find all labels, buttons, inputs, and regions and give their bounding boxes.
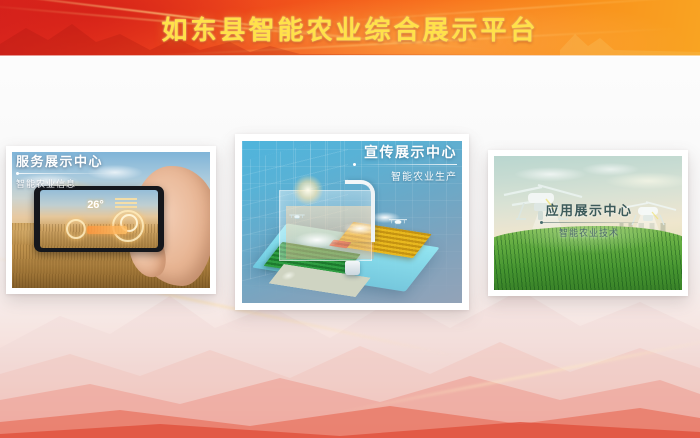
caption-app: 应用展示中心 智能农业技术: [540, 205, 638, 239]
hud-chip: [87, 226, 127, 234]
app-root: 如东县智能农业综合展示平台 26° 服务展示中心: [0, 0, 700, 438]
hud-gauge-ring: [66, 219, 86, 239]
hud-temperature: 26°: [87, 199, 104, 211]
caption-divider: [540, 222, 638, 223]
caption-divider: [16, 173, 112, 174]
caption-divider: [353, 164, 457, 165]
caption-subtitle: 智能农业信息: [16, 177, 112, 190]
caption-subtitle: 智能农业技术: [540, 226, 638, 239]
caption-title: 服务展示中心: [16, 156, 112, 170]
page-title: 如东县智能农业综合展示平台: [0, 0, 700, 56]
caption-promo: 宣传展示中心 智能农业生产: [353, 146, 457, 183]
caption-title: 宣传展示中心: [353, 146, 457, 161]
caption-title: 应用展示中心: [540, 205, 638, 219]
phone-screen: 26°: [40, 190, 158, 248]
cloud-icon: [295, 232, 339, 248]
water-tank: [345, 261, 360, 275]
smartphone-icon: 26°: [34, 186, 164, 252]
hud-bars: [115, 198, 137, 210]
irrigation-arch: [345, 180, 375, 242]
header-banner: 如东县智能农业综合展示平台: [0, 0, 700, 56]
caption-subtitle: 智能农业生产: [353, 168, 457, 183]
caption-service: 服务展示中心 智能农业信息: [16, 156, 112, 190]
sun-icon: [293, 175, 323, 205]
